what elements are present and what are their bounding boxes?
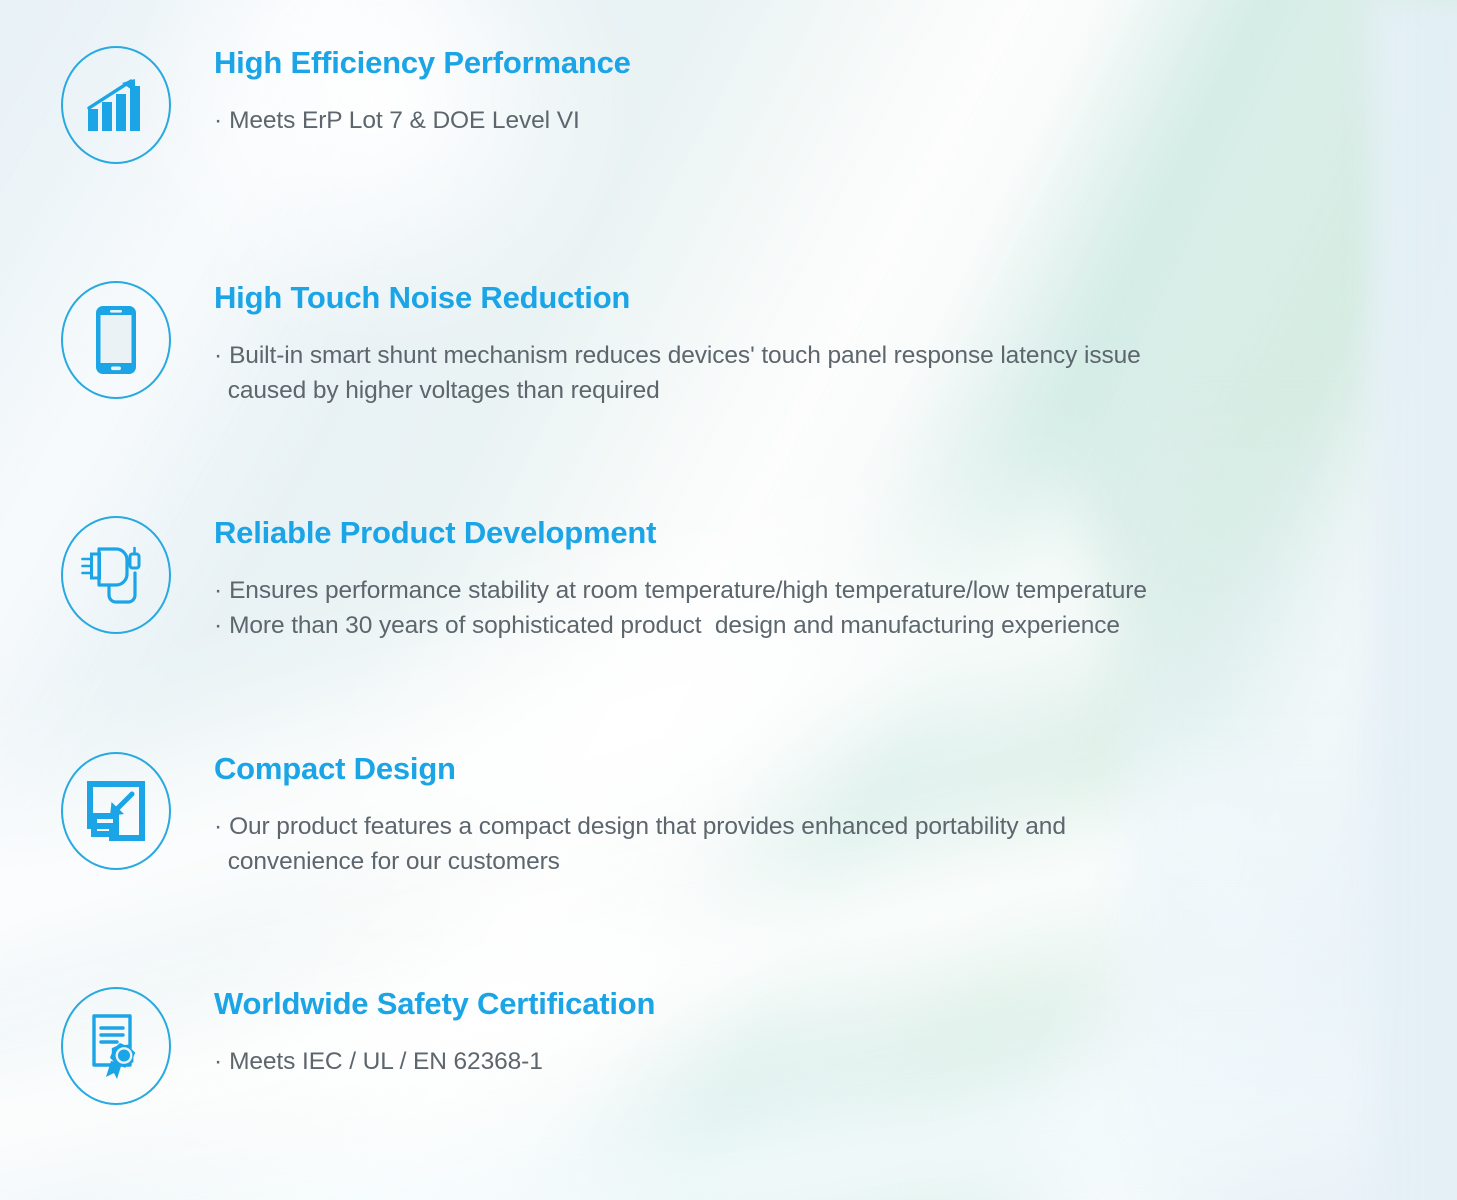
feature-bullet-text: Meets IEC / UL / EN 62368-1: [229, 1044, 1457, 1079]
feature-bullet-list: · Our product features a compact design …: [214, 809, 1457, 880]
feature-icon-wrapper: [57, 752, 175, 870]
icon-circle-frame: [61, 516, 171, 634]
feature-item-worldwide-safety-certification: Worldwide Safety Certification · Meets I…: [0, 987, 1457, 1105]
bullet-dot: ·: [214, 338, 222, 373]
feature-bullet-line-continuation: convenience for our customers: [214, 844, 1457, 879]
feature-text-column: Reliable Product Development · Ensures p…: [175, 516, 1457, 643]
feature-bullet-text: Ensures performance stability at room te…: [229, 573, 1457, 608]
feature-icon-wrapper: [57, 516, 175, 634]
feature-bullet-line: · Meets ErP Lot 7 & DOE Level VI: [214, 103, 1457, 138]
feature-text-column: Compact Design · Our product features a …: [175, 752, 1457, 879]
feature-divider: [214, 1029, 1379, 1031]
icon-circle-frame: [61, 752, 171, 870]
feature-bullet-line: · More than 30 years of sophisticated pr…: [214, 608, 1457, 643]
feature-divider: [214, 558, 1379, 560]
compact-resize-icon: [86, 780, 146, 842]
feature-title: High Touch Noise Reduction: [214, 281, 1457, 314]
feature-bullet-text: Meets ErP Lot 7 & DOE Level VI: [229, 103, 1457, 138]
feature-bullet-line: · Built-in smart shunt mechanism reduces…: [214, 338, 1457, 373]
feature-item-reliable-product-development: Reliable Product Development · Ensures p…: [0, 516, 1457, 643]
feature-bullet-text: More than 30 years of sophisticated prod…: [229, 608, 1457, 643]
bullet-dot-spacer: [214, 373, 221, 408]
bullet-dot: ·: [214, 608, 222, 643]
feature-bullet-text: Built-in smart shunt mechanism reduces d…: [229, 338, 1457, 373]
feature-bullet-list: · Meets ErP Lot 7 & DOE Level VI: [214, 103, 1457, 138]
feature-text-column: High Efficiency Performance · Meets ErP …: [175, 46, 1457, 138]
feature-text-column: High Touch Noise Reduction · Built-in sm…: [175, 281, 1457, 408]
power-adapter-icon: [79, 542, 153, 608]
feature-icon-wrapper: [57, 987, 175, 1105]
feature-divider: [214, 323, 1379, 325]
bullet-dot-spacer: [214, 844, 221, 879]
feature-text-column: Worldwide Safety Certification · Meets I…: [175, 987, 1457, 1079]
icon-circle-frame: [61, 281, 171, 399]
bullet-dot: ·: [214, 809, 222, 844]
feature-title: Compact Design: [214, 752, 1457, 785]
feature-title: Reliable Product Development: [214, 516, 1457, 549]
icon-circle-frame: [61, 46, 171, 164]
feature-bullet-text: convenience for our customers: [228, 844, 1457, 879]
feature-bullet-list: · Ensures performance stability at room …: [214, 573, 1457, 644]
feature-title: High Efficiency Performance: [214, 46, 1457, 79]
feature-item-high-efficiency-performance: High Efficiency Performance · Meets ErP …: [0, 46, 1457, 164]
feature-bullet-line: · Ensures performance stability at room …: [214, 573, 1457, 608]
feature-list: High Efficiency Performance · Meets ErP …: [0, 0, 1457, 1200]
feature-bullet-line: · Meets IEC / UL / EN 62368-1: [214, 1044, 1457, 1079]
certificate-award-icon: [86, 1013, 146, 1079]
feature-bullet-line-continuation: caused by higher voltages than required: [214, 373, 1457, 408]
bullet-dot: ·: [214, 1044, 222, 1079]
feature-divider: [214, 794, 1379, 796]
feature-icon-wrapper: [57, 46, 175, 164]
feature-bullet-text: Our product features a compact design th…: [229, 809, 1457, 844]
feature-divider: [214, 88, 1379, 90]
bullet-dot: ·: [214, 103, 222, 138]
feature-icon-wrapper: [57, 281, 175, 399]
bullet-dot: ·: [214, 573, 222, 608]
feature-bullet-list: · Built-in smart shunt mechanism reduces…: [214, 338, 1457, 409]
feature-bullet-list: · Meets IEC / UL / EN 62368-1: [214, 1044, 1457, 1079]
smartphone-icon: [94, 304, 138, 376]
feature-item-high-touch-noise-reduction: High Touch Noise Reduction · Built-in sm…: [0, 281, 1457, 408]
feature-bullet-text: caused by higher voltages than required: [228, 373, 1457, 408]
feature-bullet-line: · Our product features a compact design …: [214, 809, 1457, 844]
bar-chart-growth-icon: [85, 76, 147, 134]
feature-title: Worldwide Safety Certification: [214, 987, 1457, 1020]
icon-circle-frame: [61, 987, 171, 1105]
feature-item-compact-design: Compact Design · Our product features a …: [0, 752, 1457, 879]
